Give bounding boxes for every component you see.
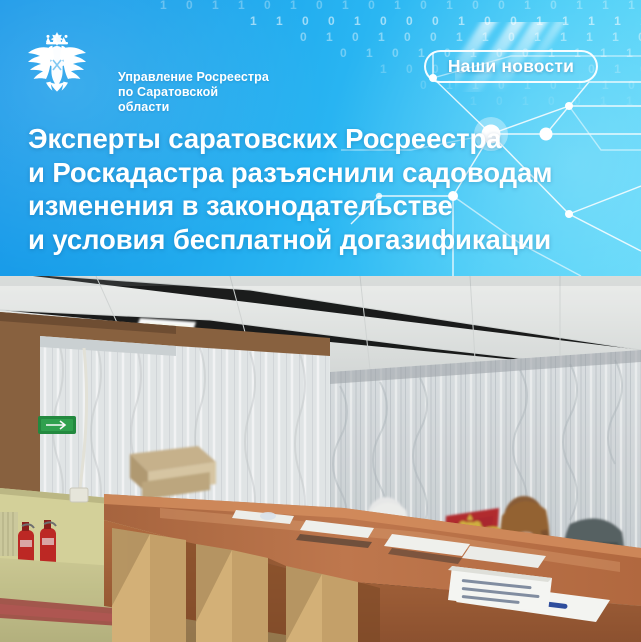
- our-news-badge[interactable]: Наши новости: [424, 50, 598, 83]
- rosreestr-double-headed-eagle-icon: [22, 26, 92, 98]
- header-banner: 1 0 1 1 0 1 0 1 0 1 0 1 0 0 1 0 1 1 1 0 …: [0, 0, 641, 276]
- binary-row: 1 0 1 1 0 1 0 1 0 1 0 1 0 0 1 0 1 1 1 0 …: [160, 0, 641, 12]
- headline: Эксперты саратовских Росреестра и Роскад…: [28, 122, 628, 256]
- org-name-line-1: Управление Росреестра: [118, 70, 272, 85]
- headline-line-3: изменения в законодательстве: [28, 189, 628, 223]
- headline-line-2: и Роскадастра разъяснили садоводам: [28, 156, 628, 190]
- binary-row: 1 0 1 0 0 1 1 0 1 0 1 1 0 0 1 0 1 0 1 1 …: [470, 94, 641, 108]
- logo: Управление Росреестра по Саратовской обл…: [22, 26, 272, 98]
- headline-line-4: и условия бесплатной догазификации: [28, 223, 628, 257]
- news-card: 1 0 1 1 0 1 0 1 0 1 0 1 0 0 1 0 1 1 1 0 …: [0, 0, 641, 642]
- org-name-line-2: по Саратовской области: [118, 85, 272, 115]
- news-photo: [0, 276, 641, 642]
- organization-name: Управление Росреестра по Саратовской обл…: [118, 70, 272, 115]
- headline-line-1: Эксперты саратовских Росреестра: [28, 122, 628, 156]
- binary-row: 0 1 0 1 0 0 1 1 0 1 1 1 1 0 0 0 0 1 0 0 …: [300, 30, 641, 44]
- binary-row: 1 1 0 0 1 0 0 0 1 0 0 1 1 1 1 1 1 0 0 0 …: [250, 14, 641, 28]
- conference-room-scene: [0, 276, 641, 642]
